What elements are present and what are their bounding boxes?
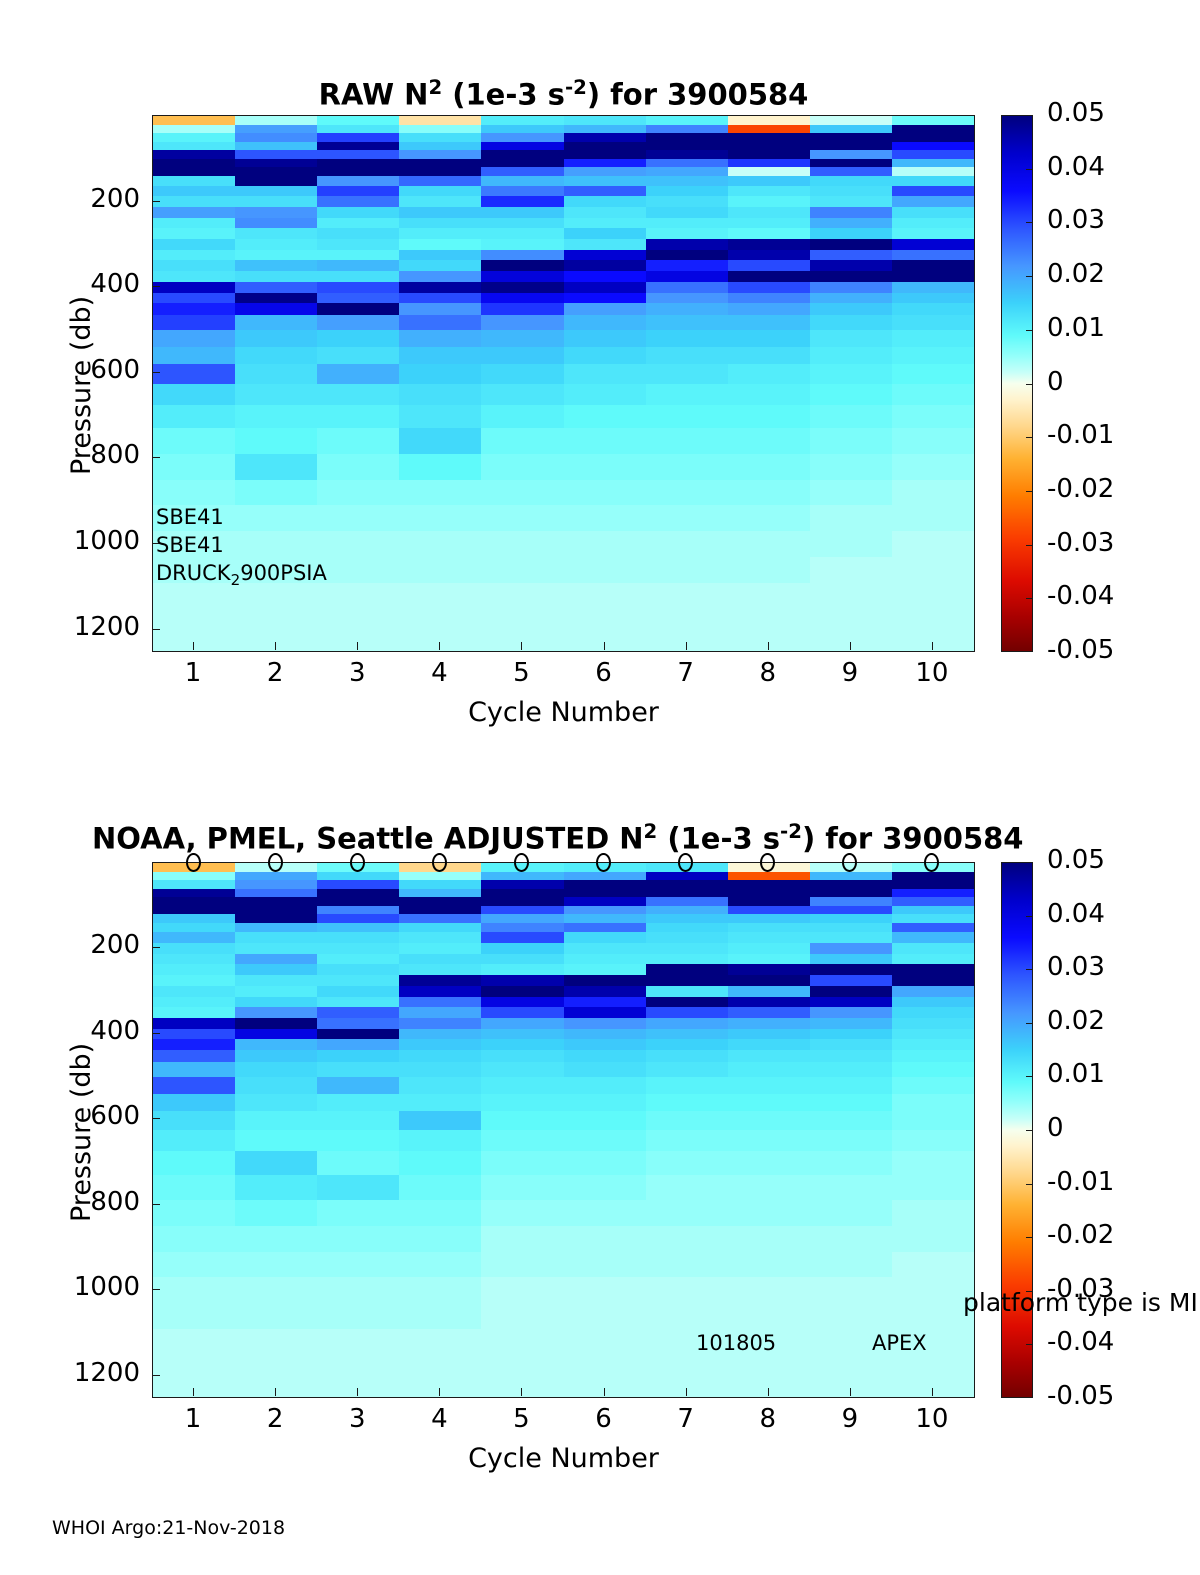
- heatmap-cell: [728, 1130, 811, 1152]
- heatmap-cell: [564, 505, 647, 531]
- heatmap-cell: [892, 1380, 975, 1397]
- heatmap-cell: [317, 1380, 400, 1397]
- heatmap-cell: [399, 557, 482, 583]
- heatmap-cell: [399, 250, 482, 261]
- x-tick-label: 7: [641, 658, 731, 688]
- x-tick-mark: [357, 642, 358, 650]
- heatmap-cell: [564, 557, 647, 583]
- heatmap-cell: [153, 943, 236, 954]
- heatmap-cell: [481, 228, 564, 239]
- heatmap-cell: [153, 1029, 236, 1040]
- heatmap-cell: [728, 293, 811, 304]
- heatmap-cell: [810, 975, 893, 986]
- heatmap-cell: [399, 1111, 482, 1131]
- heatmap-cell: [564, 1111, 647, 1131]
- heatmap-cell: [235, 1130, 318, 1152]
- y-tick-mark: [152, 457, 160, 458]
- colorbar-tick-label: 0.04: [1047, 152, 1105, 182]
- x-axis-label-adjusted: Cycle Number: [152, 1443, 975, 1474]
- heatmap-cell: [728, 1062, 811, 1078]
- heatmap-cell: [153, 405, 236, 429]
- x-tick-mark: [932, 642, 933, 650]
- heatmap-adjusted: [152, 862, 975, 1398]
- x-tick-label: 5: [476, 658, 566, 688]
- x-tick-label: 2: [230, 658, 320, 688]
- heatmap-cell: [810, 428, 893, 454]
- heatmap-cell: [481, 531, 564, 557]
- heatmap-cell: [646, 1226, 729, 1252]
- heatmap-cell: [235, 964, 318, 975]
- heatmap-cell: [646, 1029, 729, 1040]
- heatmap-cell: [728, 505, 811, 531]
- heatmap-cell: [481, 454, 564, 480]
- colorbar-tick-mark: [1026, 916, 1033, 917]
- heatmap-column: [728, 116, 811, 651]
- heatmap-cell: [153, 1175, 236, 1201]
- heatmap-cell: [153, 997, 236, 1008]
- y-tick-mark: [152, 1118, 160, 1119]
- heatmap-cell: [810, 1111, 893, 1131]
- heatmap-column: [810, 116, 893, 651]
- heatmap-cell: [810, 531, 893, 557]
- heatmap-cell: [481, 1200, 564, 1226]
- heatmap-cell: [235, 480, 318, 506]
- heatmap-cell: [481, 964, 564, 975]
- colorbar-tick-mark: [1026, 491, 1033, 492]
- heatmap-cell: [810, 239, 893, 250]
- heatmap-cell: [646, 454, 729, 480]
- heatmap-cell: [235, 1200, 318, 1226]
- heatmap-cell: [892, 330, 975, 348]
- heatmap-cell: [728, 634, 811, 651]
- heatmap-cell: [564, 1354, 647, 1380]
- heatmap-column: [728, 863, 811, 1397]
- heatmap-cell: [646, 1050, 729, 1062]
- y-tick-mark: [152, 947, 160, 948]
- heatmap-cell: [564, 608, 647, 634]
- heatmap-cell: [892, 218, 975, 229]
- y-tick-mark: [152, 1375, 160, 1376]
- heatmap-cell: [399, 1029, 482, 1040]
- y-tick-label: 1000: [0, 526, 140, 556]
- heatmap-cell: [564, 1029, 647, 1040]
- heatmap-cell: [317, 1111, 400, 1131]
- heatmap-cell: [728, 228, 811, 239]
- heatmap-cell: [235, 250, 318, 261]
- heatmap-cell: [892, 634, 975, 651]
- heatmap-column: [153, 863, 236, 1397]
- heatmap-cell: [810, 207, 893, 218]
- heatmap-cell: [317, 196, 400, 207]
- heatmap-cell: [564, 364, 647, 384]
- heatmap-cell: [810, 384, 893, 406]
- heatmap-cell: [564, 1094, 647, 1112]
- heatmap-cell: [646, 1018, 729, 1029]
- heatmap-cell: [481, 583, 564, 609]
- heatmap-cell: [317, 975, 400, 986]
- heatmap-cell: [564, 1062, 647, 1078]
- heatmap-cell: [646, 364, 729, 384]
- heatmap-cell: [481, 293, 564, 304]
- heatmap-cell: [317, 228, 400, 239]
- heatmap-cell: [481, 1018, 564, 1029]
- heatmap-cell: [892, 1130, 975, 1152]
- heatmap-cell: [153, 1111, 236, 1131]
- heatmap-cell: [153, 480, 236, 506]
- heatmap-cell: [153, 1062, 236, 1078]
- platform-type-overlay: platform type is MI: [963, 1288, 1198, 1317]
- heatmap-cell: [892, 1252, 975, 1278]
- colorbar-tick-label: -0.03: [1047, 528, 1114, 558]
- heatmap-cell: [892, 315, 975, 331]
- heatmap-cell: [235, 1111, 318, 1131]
- heatmap-cell: [153, 954, 236, 965]
- heatmap-cell: [646, 1151, 729, 1175]
- x-tick-label: 8: [723, 658, 813, 688]
- heatmap-cell: [235, 364, 318, 384]
- heatmap-cell: [564, 1175, 647, 1201]
- heatmap-cell: [810, 1007, 893, 1018]
- heatmap-cell: [317, 608, 400, 634]
- heatmap-cell: [153, 986, 236, 997]
- heatmap-cell: [481, 282, 564, 293]
- heatmap-cell: [481, 975, 564, 986]
- colorbar-tick-mark: [1026, 545, 1033, 546]
- heatmap-cell: [399, 1039, 482, 1050]
- heatmap-cell: [564, 480, 647, 506]
- heatmap-cell: [399, 260, 482, 271]
- heatmap-cell: [810, 583, 893, 609]
- heatmap-cell: [399, 1094, 482, 1112]
- heatmap-cell: [728, 1077, 811, 1095]
- colorbar-tick-mark: [1026, 1023, 1033, 1024]
- heatmap-cell: [892, 207, 975, 218]
- heatmap-cell: [399, 271, 482, 282]
- heatmap-cell: [810, 997, 893, 1008]
- colorbar-tick-label: -0.04: [1047, 1327, 1114, 1357]
- heatmap-cell: [564, 315, 647, 331]
- heatmap-cell: [399, 228, 482, 239]
- heatmap-cell: [810, 1380, 893, 1397]
- heatmap-cell: [810, 271, 893, 282]
- heatmap-cell: [564, 186, 647, 197]
- heatmap-cell: [399, 1354, 482, 1380]
- colorbar-tick-label: -0.01: [1047, 420, 1114, 450]
- heatmap-cell: [646, 1354, 729, 1380]
- heatmap-cell: [153, 271, 236, 282]
- heatmap-cell: [153, 428, 236, 454]
- heatmap-cell: [810, 964, 893, 975]
- heatmap-cell: [317, 347, 400, 365]
- heatmap-cell: [892, 1062, 975, 1078]
- heatmap-cell: [235, 1354, 318, 1380]
- heatmap-cell: [564, 932, 647, 943]
- heatmap-cell: [235, 1077, 318, 1095]
- heatmap-cell: [153, 1094, 236, 1112]
- heatmap-cell: [564, 428, 647, 454]
- heatmap-cell: [153, 260, 236, 271]
- cycle-marker: [432, 853, 447, 872]
- heatmap-cell: [810, 218, 893, 229]
- x-tick-label: 9: [805, 658, 895, 688]
- y-tick-label: 400: [0, 269, 140, 299]
- heatmap-cell: [481, 1277, 564, 1303]
- heatmap-cell: [564, 531, 647, 557]
- colorbar-tick-label: 0.02: [1047, 1006, 1105, 1036]
- heatmap-cell: [728, 1354, 811, 1380]
- heatmap-cell: [235, 330, 318, 348]
- heatmap-cell: [646, 1380, 729, 1397]
- heatmap-cell: [810, 250, 893, 261]
- heatmap-cell: [728, 943, 811, 954]
- heatmap-cell: [235, 943, 318, 954]
- heatmap-cell: [892, 1039, 975, 1050]
- heatmap-cell: [481, 1354, 564, 1380]
- heatmap-cell: [399, 405, 482, 429]
- heatmap-cell: [481, 1062, 564, 1078]
- heatmap-cell: [317, 239, 400, 250]
- heatmap-cell: [646, 1303, 729, 1329]
- heatmap-column: [646, 863, 729, 1397]
- heatmap-cell: [235, 1175, 318, 1201]
- heatmap-cell: [892, 1226, 975, 1252]
- annotation-sensor-ctd-2: SBE41: [156, 533, 224, 557]
- heatmap-cell: [317, 260, 400, 271]
- heatmap-cell: [235, 1151, 318, 1175]
- heatmap-cell: [564, 1039, 647, 1050]
- annotation-pressure-sub: 2: [231, 571, 241, 589]
- colorbar-tick-mark: [1026, 598, 1033, 599]
- x-tick-label: 3: [312, 658, 402, 688]
- heatmap-cell: [564, 405, 647, 429]
- heatmap-cell: [399, 1303, 482, 1329]
- heatmap-cell: [564, 330, 647, 348]
- heatmap-cell: [317, 364, 400, 384]
- heatmap-cell: [728, 207, 811, 218]
- heatmap-cell: [646, 932, 729, 943]
- heatmap-cell: [646, 1094, 729, 1112]
- heatmap-cell: [646, 1277, 729, 1303]
- heatmap-cell: [892, 260, 975, 271]
- heatmap-cell: [646, 293, 729, 304]
- heatmap-cell: [235, 303, 318, 315]
- heatmap-cell: [564, 975, 647, 986]
- cycle-marker: [350, 853, 365, 872]
- heatmap-cell: [646, 1200, 729, 1226]
- heatmap-cell: [564, 228, 647, 239]
- heatmap-cell: [317, 531, 400, 557]
- heatmap-cell: [399, 1252, 482, 1278]
- heatmap-cell: [235, 347, 318, 365]
- heatmap-cell: [810, 1018, 893, 1029]
- x-tick-mark: [686, 642, 687, 650]
- heatmap-cell: [235, 1277, 318, 1303]
- heatmap-cell: [564, 1200, 647, 1226]
- heatmap-cell: [153, 975, 236, 986]
- heatmap-cell: [153, 239, 236, 250]
- heatmap-cell: [564, 1380, 647, 1397]
- heatmap-cell: [153, 1050, 236, 1062]
- heatmap-cell: [728, 1226, 811, 1252]
- heatmap-cell: [481, 1226, 564, 1252]
- heatmap-cell: [728, 303, 811, 315]
- heatmap-cell: [481, 250, 564, 261]
- heatmap-cell: [399, 364, 482, 384]
- heatmap-cell: [153, 1354, 236, 1380]
- heatmap-cell: [646, 250, 729, 261]
- y-tick-mark: [152, 201, 160, 202]
- heatmap-cell: [810, 1151, 893, 1175]
- heatmap-cell: [481, 634, 564, 651]
- heatmap-cell: [481, 315, 564, 331]
- heatmap-cell: [810, 1277, 893, 1303]
- y-tick-mark: [152, 286, 160, 287]
- x-tick-label: 6: [559, 1404, 649, 1434]
- colorbar-tick-label: 0: [1047, 367, 1064, 397]
- heatmap-cell: [892, 954, 975, 965]
- heatmap-cell: [728, 480, 811, 506]
- heatmap-cell: [810, 557, 893, 583]
- heatmap-cell: [646, 1175, 729, 1201]
- colorbar-tick-label: 0.02: [1047, 259, 1105, 289]
- heatmap-cell: [399, 239, 482, 250]
- heatmap-cell: [399, 932, 482, 943]
- heatmap-cell: [728, 1094, 811, 1112]
- heatmap-cell: [892, 384, 975, 406]
- heatmap-cell: [892, 1200, 975, 1226]
- heatmap-cell: [892, 1094, 975, 1112]
- heatmap-cell: [810, 1200, 893, 1226]
- heatmap-cell: [153, 250, 236, 261]
- heatmap-cell: [399, 207, 482, 218]
- heatmap-cell: [810, 1303, 893, 1329]
- colorbar-tick-mark: [1026, 1130, 1033, 1131]
- colorbar-tick-label: 0.03: [1047, 952, 1105, 982]
- heatmap-cell: [399, 1329, 482, 1355]
- heatmap-cell: [646, 428, 729, 454]
- heatmap-cell: [564, 454, 647, 480]
- heatmap-cell: [646, 330, 729, 348]
- heatmap-cell: [481, 260, 564, 271]
- heatmap-cell: [892, 186, 975, 197]
- heatmap-cell: [892, 1151, 975, 1175]
- heatmap-cell: [481, 480, 564, 506]
- heatmap-cell: [399, 347, 482, 365]
- heatmap-cell: [892, 250, 975, 261]
- heatmap-cell: [481, 1029, 564, 1040]
- heatmap-column: [481, 863, 564, 1397]
- heatmap-cell: [235, 997, 318, 1008]
- heatmap-cell: [810, 986, 893, 997]
- heatmap-cell: [399, 1018, 482, 1029]
- heatmap-cell: [399, 454, 482, 480]
- heatmap-cell: [646, 557, 729, 583]
- heatmap-cell: [728, 531, 811, 557]
- heatmap-cell: [235, 1062, 318, 1078]
- heatmap-cell: [728, 986, 811, 997]
- heatmap-cell: [399, 293, 482, 304]
- cycle-marker: [268, 853, 283, 872]
- x-tick-mark: [604, 1388, 605, 1396]
- heatmap-cell: [399, 608, 482, 634]
- heatmap-cell: [481, 405, 564, 429]
- heatmap-cell: [646, 239, 729, 250]
- heatmap-cell: [728, 608, 811, 634]
- heatmap-cell: [153, 330, 236, 348]
- heatmap-cell: [564, 384, 647, 406]
- heatmap-cell: [153, 1151, 236, 1175]
- colorbar-tick-label: 0.03: [1047, 205, 1105, 235]
- heatmap-cell: [728, 384, 811, 406]
- heatmap-cell: [317, 1007, 400, 1018]
- heatmap-cell: [728, 330, 811, 348]
- heatmap-cell: [399, 428, 482, 454]
- x-tick-label: 9: [805, 1404, 895, 1434]
- heatmap-cell: [235, 239, 318, 250]
- heatmap-cell: [481, 1111, 564, 1131]
- colorbar-tick-label: -0.02: [1047, 474, 1114, 504]
- heatmap-cell: [892, 347, 975, 365]
- heatmap-cell: [481, 505, 564, 531]
- heatmap-cell: [153, 196, 236, 207]
- heatmap-column: [564, 863, 647, 1397]
- plot-title-adjusted: NOAA, PMEL, Seattle ADJUSTED N2 (1e-3 s-…: [92, 820, 1022, 856]
- heatmap-cell: [481, 1094, 564, 1112]
- heatmap-cell: [646, 583, 729, 609]
- heatmap-cell: [235, 1018, 318, 1029]
- x-tick-mark: [604, 642, 605, 650]
- heatmap-cell: [728, 1252, 811, 1278]
- heatmap-cell: [810, 347, 893, 365]
- colorbar-tick-mark: [1026, 330, 1033, 331]
- heatmap-cell: [317, 997, 400, 1008]
- heatmap-column: [481, 116, 564, 651]
- y-tick-label: 1200: [0, 1358, 140, 1388]
- heatmap-cell: [810, 293, 893, 304]
- heatmap-cell: [317, 1130, 400, 1152]
- x-tick-label: 10: [887, 658, 977, 688]
- heatmap-cell: [564, 1226, 647, 1252]
- heatmap-cell: [481, 207, 564, 218]
- heatmap-cell: [317, 1252, 400, 1278]
- heatmap-cell: [728, 454, 811, 480]
- x-tick-label: 7: [641, 1404, 731, 1434]
- heatmap-cell: [481, 1077, 564, 1095]
- heatmap-cell: [810, 608, 893, 634]
- heatmap-cell: [317, 293, 400, 304]
- heatmap-cell: [153, 964, 236, 975]
- heatmap-cell: [810, 1252, 893, 1278]
- heatmap-cell: [317, 405, 400, 429]
- x-tick-mark: [193, 642, 194, 650]
- heatmap-cell: [646, 1252, 729, 1278]
- heatmap-cell: [399, 1130, 482, 1152]
- heatmap-cell: [646, 207, 729, 218]
- heatmap-cell: [317, 986, 400, 997]
- heatmap-cell: [481, 330, 564, 348]
- heatmap-cell: [810, 196, 893, 207]
- heatmap-cell: [892, 239, 975, 250]
- heatmap-column: [317, 116, 400, 651]
- heatmap-cell: [728, 557, 811, 583]
- heatmap-cell: [646, 1062, 729, 1078]
- annotation-float-platform: APEX: [872, 1331, 927, 1355]
- heatmap-cell: [153, 1007, 236, 1018]
- y-tick-mark: [152, 1289, 160, 1290]
- heatmap-cell: [728, 1018, 811, 1029]
- heatmap-cell: [153, 454, 236, 480]
- heatmap-cell: [235, 454, 318, 480]
